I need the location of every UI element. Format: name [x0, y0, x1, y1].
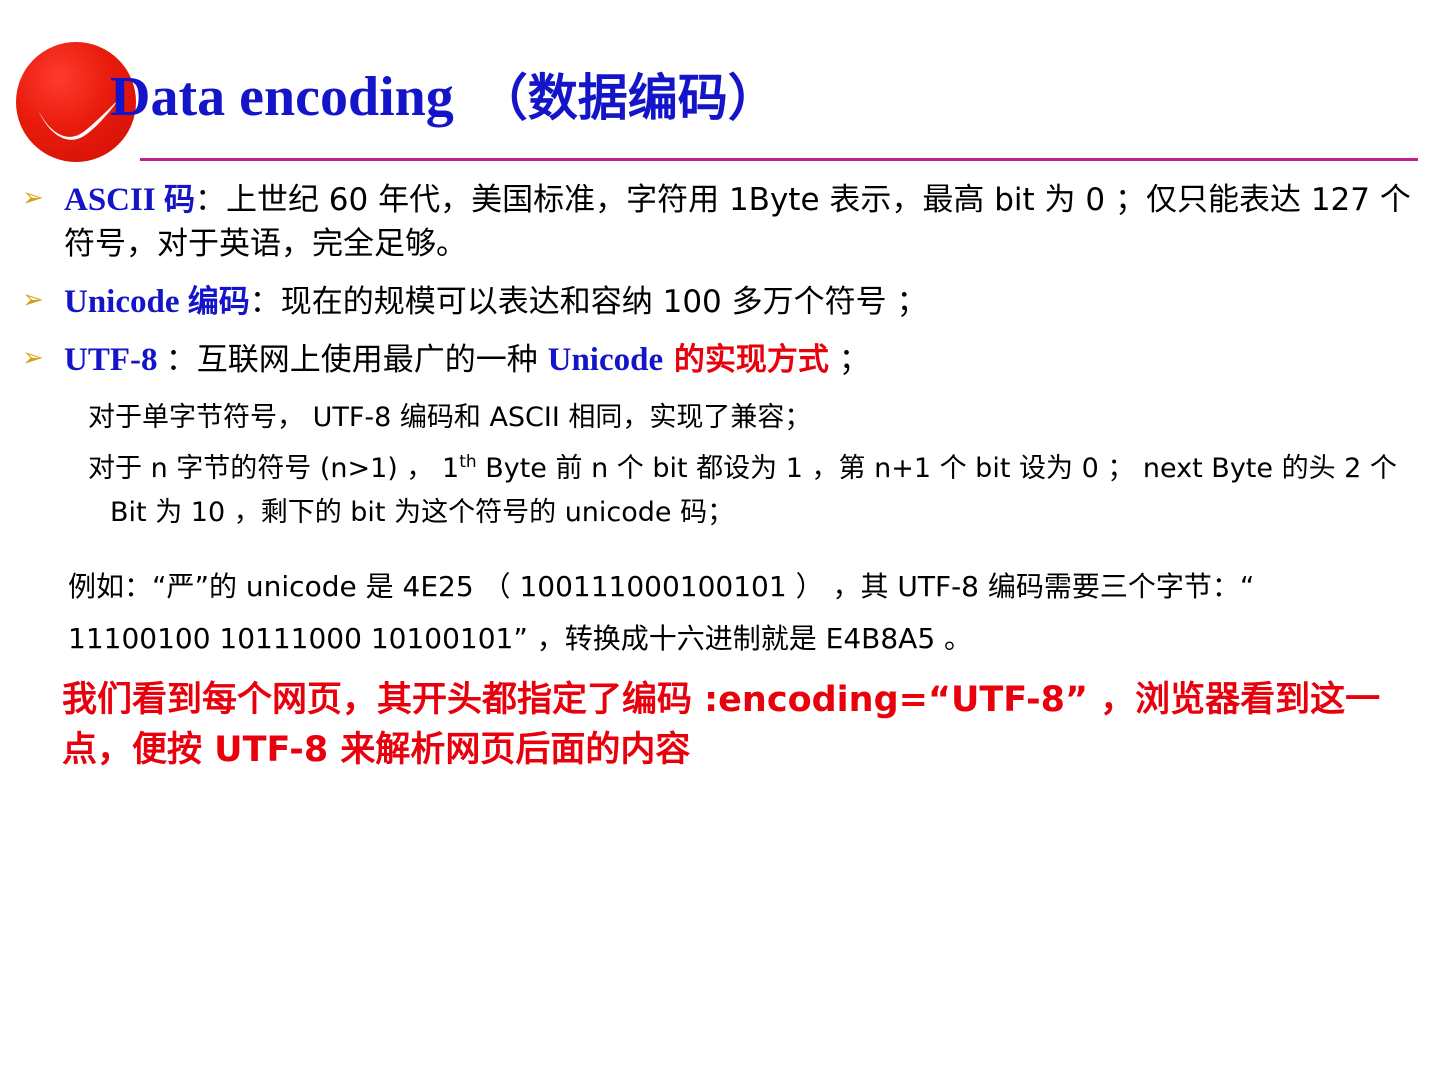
bullet-unicode-body: ：现在的规模可以表达和容纳 100 多万个符号 ； — [250, 284, 928, 320]
page-title-en: Data encoding — [110, 66, 454, 128]
bullet-arrow-icon: ➢ — [22, 344, 44, 370]
bullet-ascii-lead-en: ASCII — [64, 182, 164, 218]
title-divider — [140, 158, 1418, 161]
bullet-unicode-lead-cn: 编码 — [188, 284, 250, 320]
bullet-arrow-icon: ➢ — [22, 286, 44, 312]
slide-body: ➢ ASCII 码：上世纪 60 年代，美国标准，字符用 1Byte 表示，最高… — [0, 178, 1440, 775]
bullet-utf8-body-before: ：互联网上使用最广的一种 — [166, 342, 548, 378]
bullet-unicode: ➢ Unicode 编码：现在的规模可以表达和容纳 100 多万个符号 ； — [0, 280, 1440, 324]
utf8-detail-block: 对于单字节符号， UTF-8 编码和 ASCII 相同，实现了兼容； 对于 n … — [0, 396, 1440, 535]
page-title: Data encoding（数据编码） — [110, 58, 778, 130]
bullet-ascii-text: ASCII 码：上世纪 60 年代，美国标准，字符用 1Byte 表示，最高 b… — [64, 178, 1412, 266]
example-text: 例如：“严”的 unicode 是 4E25 （ 100111000100101… — [68, 570, 1254, 655]
bullet-ascii-body: ：上世纪 60 年代，美国标准，字符用 1Byte 表示，最高 bit 为 0 … — [64, 182, 1411, 262]
bullet-unicode-lead-en: Unicode — [64, 284, 188, 320]
bullet-arrow-icon: ➢ — [22, 184, 44, 210]
bullet-utf8: ➢ UTF-8 ：互联网上使用最广的一种 Unicode 的实现方式 ； — [0, 338, 1440, 382]
bullet-utf8-lead-en: UTF-8 — [64, 342, 166, 378]
utf8-detail-superscript: th — [459, 452, 476, 472]
bullet-utf8-text: UTF-8 ：互联网上使用最广的一种 Unicode 的实现方式 ； — [64, 338, 1412, 382]
bullet-utf8-unicode-highlight: Unicode — [548, 342, 664, 378]
utf8-detail-line-1: 对于单字节符号， UTF-8 编码和 ASCII 相同，实现了兼容； — [88, 396, 1412, 440]
slide-header: Data encoding（数据编码） — [0, 0, 1440, 170]
bullet-ascii-lead-cn: 码 — [164, 182, 195, 218]
bullet-utf8-red-highlight: 的实现方式 — [663, 342, 829, 378]
bullet-unicode-text: Unicode 编码：现在的规模可以表达和容纳 100 多万个符号 ； — [64, 280, 1412, 324]
utf8-detail-line-2a: 对于 n 字节的符号 (n>1) ， 1 — [88, 453, 459, 484]
page-title-cn: （数据编码） — [478, 69, 778, 127]
conclusion-text: 我们看到每个网页，其开头都指定了编码 :encoding=“UTF-8” ，浏览… — [62, 680, 1380, 770]
slide-root: Data encoding（数据编码） ➢ ASCII 码：上世纪 60 年代，… — [0, 0, 1440, 1080]
bullet-ascii: ➢ ASCII 码：上世纪 60 年代，美国标准，字符用 1Byte 表示，最高… — [0, 178, 1440, 266]
conclusion-block: 我们看到每个网页，其开头都指定了编码 :encoding=“UTF-8” ，浏览… — [0, 675, 1440, 775]
example-block: 例如：“严”的 unicode 是 4E25 （ 100111000100101… — [0, 561, 1440, 665]
bullet-utf8-body-after: ； — [829, 342, 870, 378]
utf8-detail-line-2: 对于 n 字节的符号 (n>1) ， 1th Byte 前 n 个 bit 都设… — [88, 440, 1412, 535]
